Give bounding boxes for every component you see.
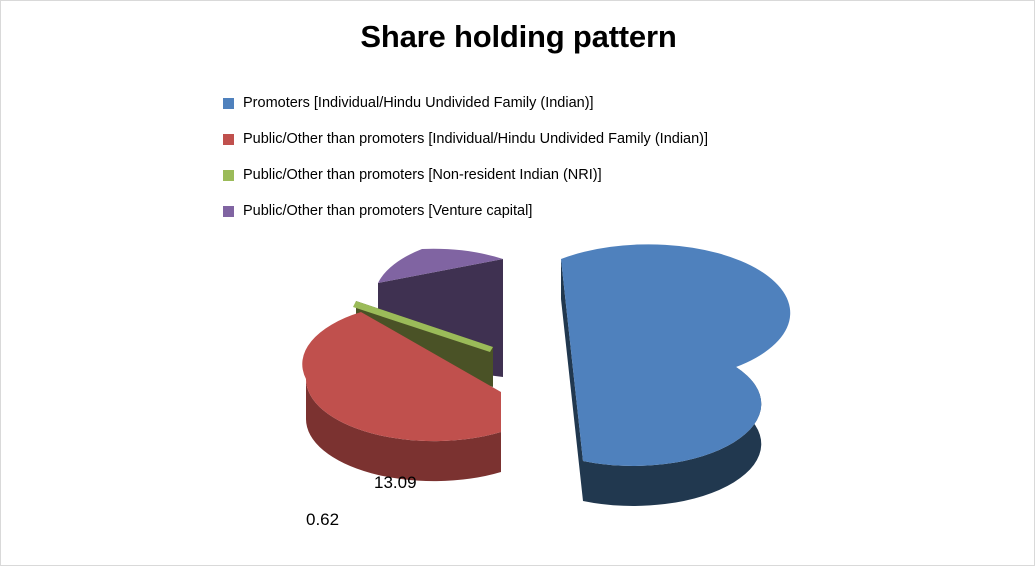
chart-legend: Promoters [Individual/Hindu Undivided Fa… [223,85,923,229]
legend-item-public-venture[interactable]: Public/Other than promoters [Venture cap… [223,193,923,229]
pie-chart-svg [1,229,1035,529]
chart-container: Share holding pattern Promoters [Individ… [0,0,1035,566]
data-label-public-nri: 0.62 [306,510,339,530]
legend-swatch-public-huf [223,134,234,145]
legend-item-public-nri[interactable]: Public/Other than promoters [Non-residen… [223,157,923,193]
legend-label-promoters: Promoters [Individual/Hindu Undivided Fa… [243,96,594,111]
legend-swatch-public-nri [223,170,234,181]
legend-swatch-public-venture [223,206,234,217]
legend-item-promoters[interactable]: Promoters [Individual/Hindu Undivided Fa… [223,85,923,121]
legend-swatch-promoters [223,98,234,109]
legend-label-public-huf: Public/Other than promoters [Individual/… [243,132,708,147]
legend-label-public-nri: Public/Other than promoters [Non-residen… [243,168,602,183]
data-label-public-venture: 13.09 [374,473,417,493]
chart-title: Share holding pattern [1,19,1035,55]
legend-item-public-huf[interactable]: Public/Other than promoters [Individual/… [223,121,923,157]
pie-plot-area: 13.09 0.62 38.30 47.99 [1,229,1035,529]
legend-label-public-venture: Public/Other than promoters [Venture cap… [243,204,532,219]
pie-slice-promoters[interactable] [561,244,790,506]
